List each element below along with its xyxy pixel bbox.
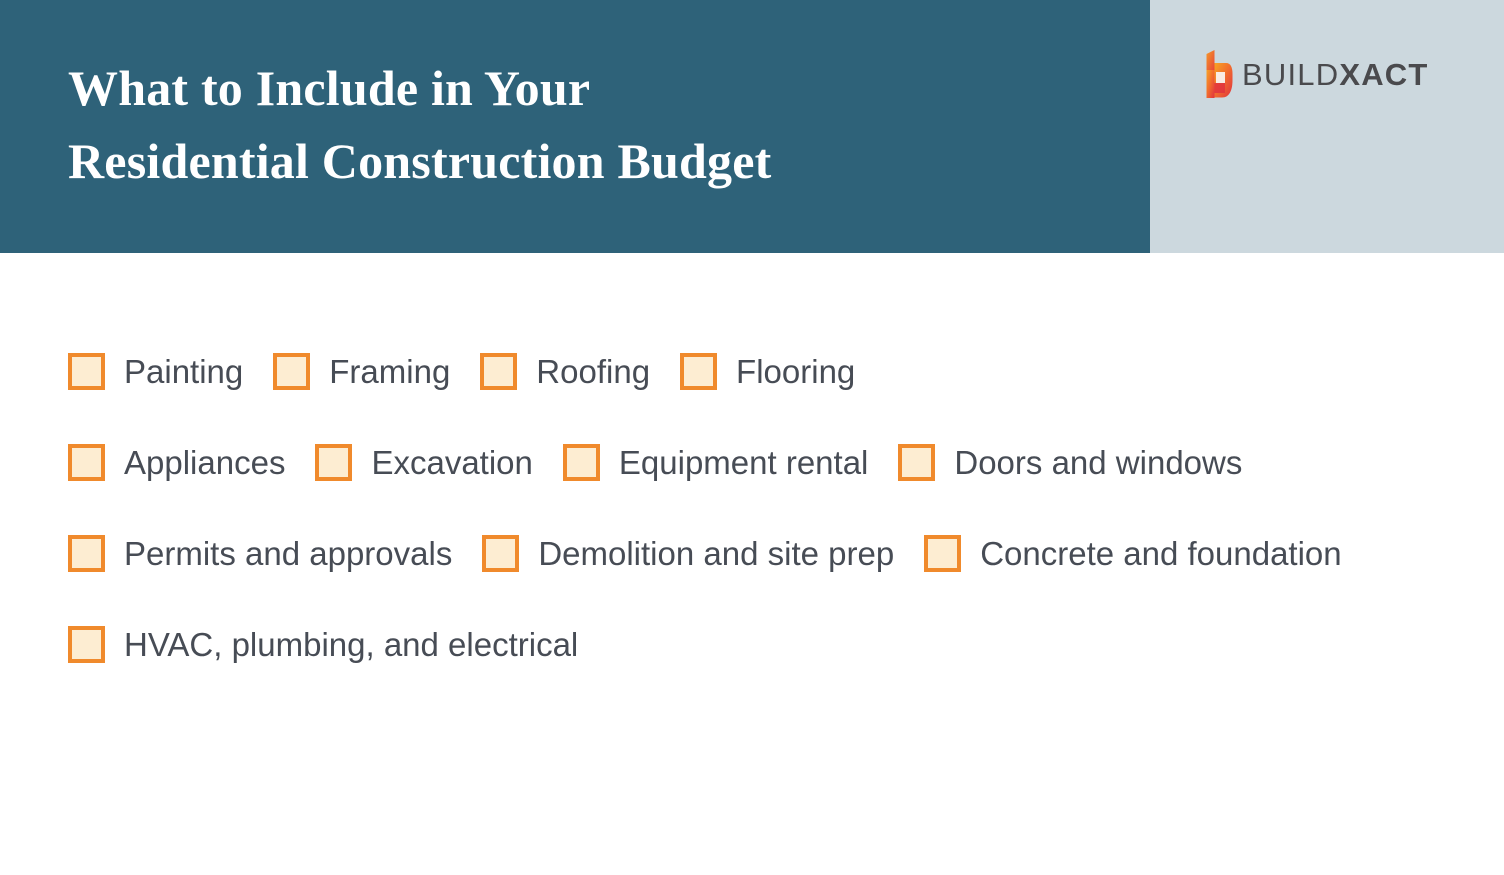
page-root: What to Include in Your Residential Cons… — [0, 0, 1504, 875]
page-title-line-1: What to Include in Your — [68, 52, 1150, 125]
checklist-item-framing[interactable]: Framing — [273, 353, 450, 390]
checkbox-icon[interactable] — [898, 444, 935, 481]
checklist-item-label: Doors and windows — [954, 444, 1242, 481]
checklist-item-label: Demolition and site prep — [538, 535, 894, 572]
checklist-item-label: Equipment rental — [619, 444, 868, 481]
checklist-item-equipment-rental[interactable]: Equipment rental — [563, 444, 868, 481]
header-title-panel: What to Include in Your Residential Cons… — [0, 0, 1150, 253]
checkbox-icon[interactable] — [68, 626, 105, 663]
checklist-row: Appliances Excavation Equipment rental D… — [68, 444, 1468, 481]
budget-checklist: Painting Framing Roofing Flooring Applia… — [68, 353, 1468, 663]
checklist-item-permits-and-approvals[interactable]: Permits and approvals — [68, 535, 452, 572]
checkbox-icon[interactable] — [273, 353, 310, 390]
checkbox-icon[interactable] — [563, 444, 600, 481]
logo-word-xact: XACT — [1339, 57, 1428, 92]
checklist-item-label: Painting — [124, 353, 243, 390]
checkbox-icon[interactable] — [480, 353, 517, 390]
header-logo-panel: BUILDXACT — [1150, 0, 1504, 253]
checklist-item-flooring[interactable]: Flooring — [680, 353, 855, 390]
checklist-item-appliances[interactable]: Appliances — [68, 444, 285, 481]
checklist-item-label: Appliances — [124, 444, 285, 481]
checkbox-icon[interactable] — [482, 535, 519, 572]
buildxact-logo[interactable]: BUILDXACT — [1205, 50, 1429, 98]
checklist-item-concrete-and-foundation[interactable]: Concrete and foundation — [924, 535, 1341, 572]
checklist-item-demolition-and-site-prep[interactable]: Demolition and site prep — [482, 535, 894, 572]
page-title-line-2: Residential Construction Budget — [68, 125, 1150, 198]
buildxact-b-mark-icon — [1205, 50, 1233, 98]
checklist-row: HVAC, plumbing, and electrical — [68, 626, 1468, 663]
checklist-item-label: HVAC, plumbing, and electrical — [124, 626, 578, 663]
checkbox-icon[interactable] — [924, 535, 961, 572]
checklist-item-label: Excavation — [371, 444, 532, 481]
checklist-item-label: Permits and approvals — [124, 535, 452, 572]
checkbox-icon[interactable] — [68, 535, 105, 572]
checkbox-icon[interactable] — [68, 353, 105, 390]
checklist-row: Permits and approvals Demolition and sit… — [68, 535, 1468, 572]
logo-word-build: BUILD — [1242, 57, 1339, 92]
checkbox-icon[interactable] — [315, 444, 352, 481]
checklist-item-label: Concrete and foundation — [980, 535, 1341, 572]
checklist-item-doors-and-windows[interactable]: Doors and windows — [898, 444, 1242, 481]
header-banner: What to Include in Your Residential Cons… — [0, 0, 1504, 253]
checklist-item-roofing[interactable]: Roofing — [480, 353, 650, 390]
buildxact-wordmark: BUILDXACT — [1242, 59, 1429, 90]
checklist-item-label: Framing — [329, 353, 450, 390]
checklist-item-label: Flooring — [736, 353, 855, 390]
checklist-item-painting[interactable]: Painting — [68, 353, 243, 390]
checkbox-icon[interactable] — [680, 353, 717, 390]
checkbox-icon[interactable] — [68, 444, 105, 481]
checklist-item-hvac-plumbing-electrical[interactable]: HVAC, plumbing, and electrical — [68, 626, 578, 663]
checklist-item-label: Roofing — [536, 353, 650, 390]
checklist-item-excavation[interactable]: Excavation — [315, 444, 532, 481]
checklist-row: Painting Framing Roofing Flooring — [68, 353, 1468, 390]
page-title: What to Include in Your Residential Cons… — [68, 52, 1150, 198]
